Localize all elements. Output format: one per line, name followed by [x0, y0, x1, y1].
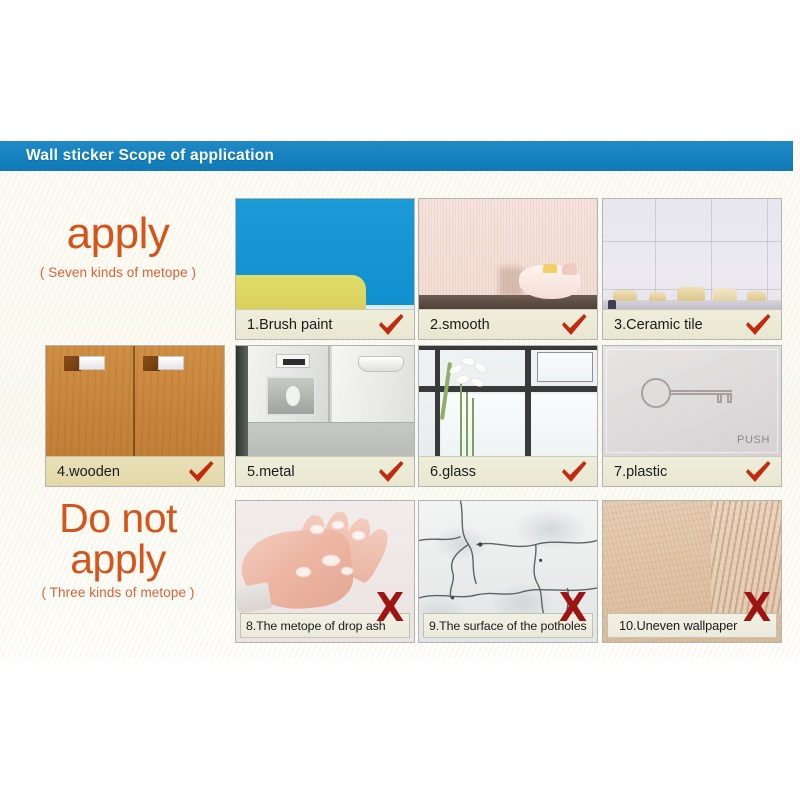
tile-caption-text: 1.Brush paint	[247, 317, 332, 333]
tile-smooth: 2.smooth	[418, 198, 598, 340]
tile-caption-text: 6.glass	[430, 464, 476, 480]
tile-caption-text: 10.Uneven wallpaper	[613, 618, 737, 633]
tile-caption: 5.metal	[236, 456, 414, 486]
apply-subheading: ( Seven kinds of metope )	[3, 265, 233, 280]
tile-caption: 4.wooden	[46, 456, 224, 486]
check-mark-icon	[377, 460, 405, 484]
tile-plastic: PUSH 7.plastic	[602, 345, 782, 487]
cross-mark-icon	[556, 590, 590, 624]
tile-drop-ash: 8.The metope of drop ash	[235, 500, 415, 643]
cross-mark-icon	[740, 590, 774, 624]
tile-brush-paint: 1.Brush paint	[235, 198, 415, 340]
tile-caption-text: 2.smooth	[430, 317, 490, 333]
tile-caption-text: 7.plastic	[614, 464, 667, 480]
do-not-apply-subheading: ( Three kinds of metope )	[3, 585, 233, 600]
tile-caption: 2.smooth	[419, 309, 597, 339]
check-mark-icon	[377, 313, 405, 337]
tile-glass: 6.glass	[418, 345, 598, 487]
key-icon	[641, 378, 741, 408]
tile-caption: 7.plastic	[603, 456, 781, 486]
apply-heading: apply	[3, 212, 233, 256]
cross-mark-icon	[373, 590, 407, 624]
tile-caption-text: 3.Ceramic tile	[614, 317, 703, 333]
tile-uneven-wallpaper: 10.Uneven wallpaper	[602, 500, 782, 643]
tile-caption: 3.Ceramic tile	[603, 309, 781, 339]
infographic-canvas: Wall sticker Scope of application apply …	[0, 0, 800, 800]
apply-heading-block: apply ( Seven kinds of metope )	[3, 212, 233, 280]
page-title: Wall sticker Scope of application	[26, 147, 274, 165]
push-label: PUSH	[737, 434, 770, 446]
check-mark-icon	[187, 460, 215, 484]
header-bar: Wall sticker Scope of application	[0, 141, 793, 171]
tile-caption: 6.glass	[419, 456, 597, 486]
tile-potholes: 9.The surface of the potholes	[418, 500, 598, 643]
tile-caption: 1.Brush paint	[236, 309, 414, 339]
tile-wooden: 4.wooden	[45, 345, 225, 487]
tile-caption-text: 8.The metope of drop ash	[246, 619, 386, 633]
check-mark-icon	[560, 460, 588, 484]
do-not-apply-heading-line1: Do not	[3, 498, 233, 539]
check-mark-icon	[744, 313, 772, 337]
do-not-apply-heading-line2: apply	[3, 539, 233, 580]
tile-caption-text: 4.wooden	[57, 464, 120, 480]
check-mark-icon	[560, 313, 588, 337]
tile-metal: 5.metal	[235, 345, 415, 487]
tile-ceramic-tile: 3.Ceramic tile	[602, 198, 782, 340]
check-mark-icon	[744, 460, 772, 484]
tile-caption-text: 5.metal	[247, 464, 295, 480]
do-not-apply-heading-block: Do not apply ( Three kinds of metope )	[3, 498, 233, 600]
